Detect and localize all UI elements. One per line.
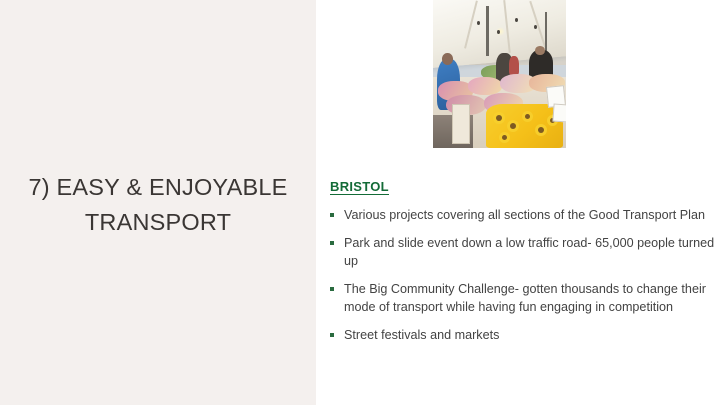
content-panel: BRISTOL Various projects covering all se…	[316, 0, 720, 405]
light-bulb-icon	[497, 30, 500, 34]
title-panel: 7) EASY & ENJOYABLE TRANSPORT	[0, 0, 316, 405]
presentation-slide: 7) EASY & ENJOYABLE TRANSPORT	[0, 0, 720, 405]
bullet-square-icon	[330, 213, 334, 217]
list-item: Park and slide event down a low traffic …	[328, 234, 720, 271]
section-heading-bristol: BRISTOL	[330, 179, 389, 195]
list-item-text: Various projects covering all sections o…	[344, 208, 705, 222]
canopy-pole	[486, 6, 489, 56]
page-title: 7) EASY & ENJOYABLE TRANSPORT	[28, 170, 288, 240]
bullet-square-icon	[330, 287, 334, 291]
sunflower-icon	[525, 114, 530, 119]
produce-crate	[452, 104, 470, 144]
price-sign	[552, 103, 566, 122]
list-item: Various projects covering all sections o…	[328, 206, 720, 225]
market-photo	[433, 0, 566, 148]
bullet-square-icon	[330, 241, 334, 245]
sunflower-icon	[502, 135, 507, 140]
sunflower-icon	[496, 115, 502, 121]
sunflower-icon	[510, 123, 516, 129]
shopper-head	[442, 53, 453, 65]
shopper-silhouette	[509, 56, 520, 75]
light-bulb-icon	[477, 21, 480, 25]
list-item-text: Street festivals and markets	[344, 328, 499, 342]
list-item: Street festivals and markets	[328, 326, 720, 345]
list-item-text: Park and slide event down a low traffic …	[344, 236, 714, 269]
market-photo-image	[433, 0, 566, 148]
flower-bunch	[468, 77, 503, 95]
list-item: The Big Community Challenge- gotten thou…	[328, 280, 720, 317]
bullet-square-icon	[330, 333, 334, 337]
content-body: BRISTOL Various projects covering all se…	[328, 178, 720, 344]
sunflower-display	[486, 104, 563, 148]
bullet-list: Various projects covering all sections o…	[328, 206, 720, 344]
vendor-head	[535, 46, 544, 55]
list-item-text: The Big Community Challenge- gotten thou…	[344, 282, 706, 315]
